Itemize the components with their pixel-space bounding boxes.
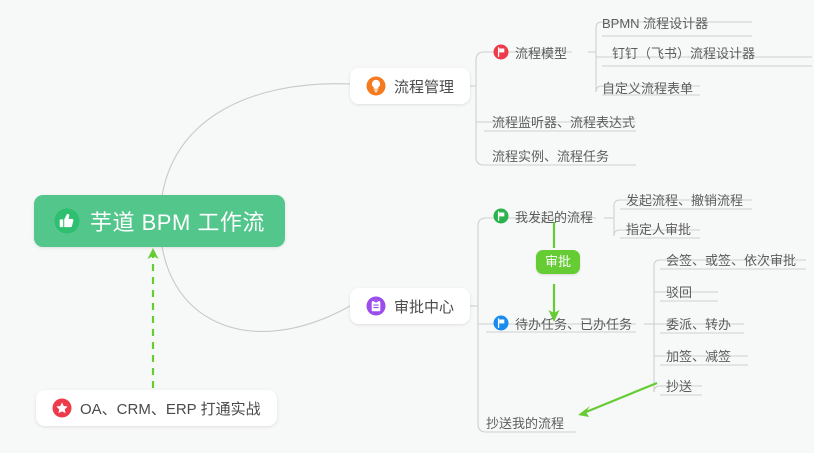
node-label: 我发起的流程 <box>515 207 593 226</box>
star-icon <box>52 399 71 418</box>
node-todo-done-tasks[interactable]: 待办任务、已办任务 <box>493 310 632 336</box>
flag-icon <box>493 316 508 331</box>
leaf-dingtalk-designer[interactable]: 钉钉（飞书）流程设计器 <box>612 43 755 62</box>
lightbulb-icon <box>366 77 385 96</box>
bottom-node-oa-crm-erp[interactable]: OA、CRM、ERP 打通实战 <box>36 390 277 426</box>
flag-icon <box>493 45 508 60</box>
branch-process-management[interactable]: 流程管理 <box>350 68 470 104</box>
leaf-reject[interactable]: 驳回 <box>666 282 692 301</box>
dashed-arrow-up <box>148 248 159 388</box>
node-process-model[interactable]: 流程模型 <box>493 39 567 65</box>
mindmap-canvas: 芋道 BPM 工作流 流程管理 流程模型 BPMN 流程设计器 钉钉（飞书）流程… <box>0 0 814 453</box>
branch-label: 流程管理 <box>394 76 454 97</box>
node-my-started-process[interactable]: 我发起的流程 <box>493 203 593 229</box>
root-label: 芋道 BPM 工作流 <box>90 205 265 237</box>
branch-label: 审批中心 <box>394 296 454 317</box>
cc-link-arrow <box>578 383 657 417</box>
approval-callout-pill: 审批 <box>536 250 580 274</box>
node-label: 待办任务、已办任务 <box>515 314 632 333</box>
leaf-custom-form[interactable]: 自定义流程表单 <box>602 78 693 97</box>
leaf-countersign[interactable]: 会签、或签、依次审批 <box>666 250 796 269</box>
flag-icon <box>493 209 508 224</box>
leaf-start-cancel-process[interactable]: 发起流程、撤销流程 <box>626 190 743 209</box>
leaf-cc-to-me[interactable]: 抄送我的流程 <box>486 413 564 432</box>
node-label: 流程模型 <box>515 43 567 62</box>
branch-approval-center[interactable]: 审批中心 <box>350 288 470 324</box>
thumbs-up-icon <box>54 208 80 234</box>
leaf-process-instance[interactable]: 流程实例、流程任务 <box>492 146 609 165</box>
root-node[interactable]: 芋道 BPM 工作流 <box>34 195 285 247</box>
leaf-add-remove-sign[interactable]: 加签、减签 <box>666 346 731 365</box>
leaf-delegate-transfer[interactable]: 委派、转办 <box>666 314 731 333</box>
leaf-bpmn-designer[interactable]: BPMN 流程设计器 <box>602 13 708 32</box>
leaf-process-listener[interactable]: 流程监听器、流程表达式 <box>492 112 635 131</box>
bottom-node-label: OA、CRM、ERP 打通实战 <box>80 398 261 419</box>
clipboard-icon <box>366 297 385 316</box>
leaf-cc[interactable]: 抄送 <box>666 376 692 395</box>
leaf-assigned-approval[interactable]: 指定人审批 <box>626 219 691 238</box>
